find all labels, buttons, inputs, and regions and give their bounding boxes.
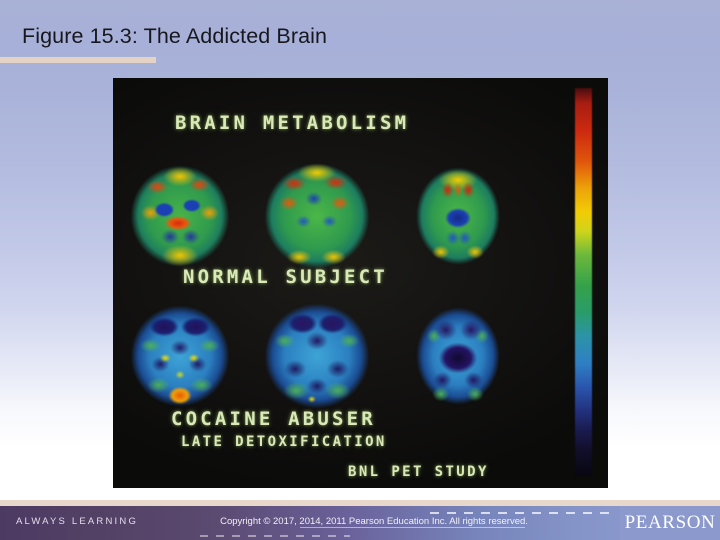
brain-scan-normal-2 — [265, 162, 369, 270]
scan-underline-artifact — [300, 527, 525, 528]
scan-heading-brain-metabolism: BRAIN METABOLISM — [175, 112, 409, 134]
scan-row-cocaine-abuser — [113, 300, 583, 412]
brain-scan-cocaine-3 — [415, 306, 501, 406]
scan-label-late-detoxification: LATE DETOXIFICATION — [181, 434, 387, 450]
footer-copyright: Copyright © 2017, 2014, 2011 Pearson Edu… — [0, 516, 720, 527]
brain-scan-normal-3 — [415, 166, 501, 266]
pet-scan-figure: BRAIN METABOLISM NORMAL SUBJECT COCAINE … — [113, 78, 608, 488]
scan-label-normal-subject: NORMAL SUBJECT — [183, 266, 388, 288]
metabolic-activity-colorbar — [575, 88, 592, 476]
slide: Figure 15.3: The Addicted Brain BRAIN ME… — [0, 0, 720, 540]
scan-label-cocaine-abuser: COCAINE ABUSER — [171, 408, 376, 430]
pet-scan-canvas: BRAIN METABOLISM NORMAL SUBJECT COCAINE … — [113, 78, 608, 488]
slide-footer: ALWAYS LEARNING Copyright © 2017, 2014, … — [0, 506, 720, 540]
page-title: Figure 15.3: The Addicted Brain — [22, 22, 327, 50]
brain-scan-cocaine-2 — [265, 302, 369, 410]
title-underline-rule — [0, 57, 156, 63]
brain-scan-normal-1 — [131, 164, 229, 268]
scan-row-normal-subject — [113, 160, 583, 272]
scan-dash-artifact-upper — [430, 512, 610, 514]
brain-scan-cocaine-1 — [131, 304, 229, 408]
scan-dash-artifact-lower — [200, 535, 350, 537]
pearson-logo: PEARSON — [620, 506, 720, 540]
scan-credit-bnl-pet-study: BNL PET STUDY — [348, 464, 489, 480]
